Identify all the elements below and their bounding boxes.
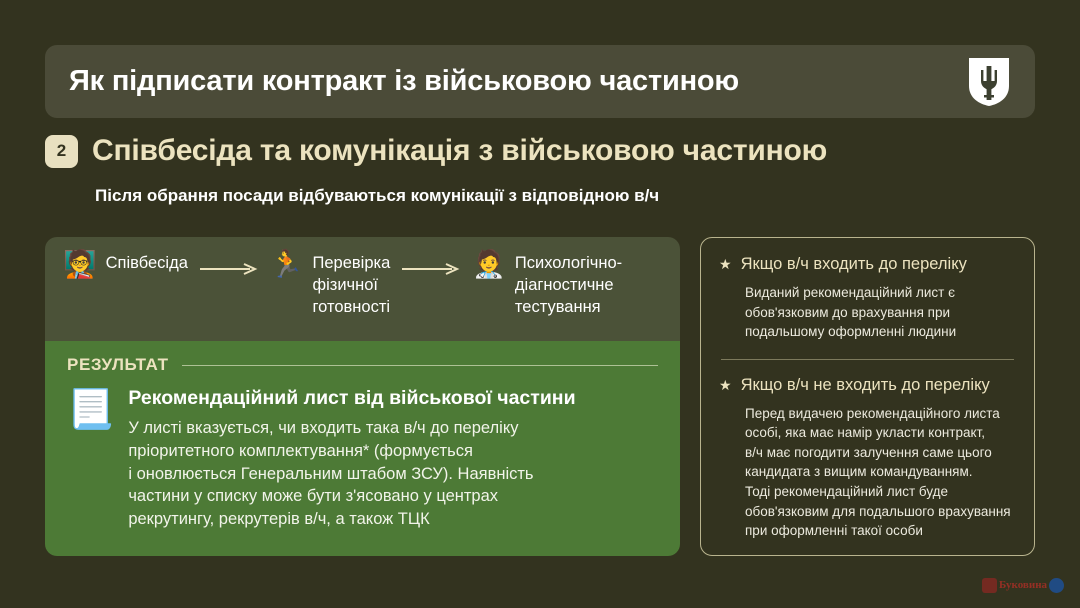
result-header: РЕЗУЛЬТАТ xyxy=(67,355,658,375)
result-body: 📃 Рекомендаційний лист від військової ча… xyxy=(67,387,658,531)
coat-of-arms-icon xyxy=(982,578,997,593)
result-heading: Рекомендаційний лист від військової част… xyxy=(128,387,575,410)
flow-step-psych-testing: 🧑‍⚕️ Психологічно- діагностичне тестуван… xyxy=(472,253,622,319)
flow-step-label: Співбесіда xyxy=(106,253,188,275)
note-title: Якщо в/ч не входить до переліку xyxy=(741,376,990,395)
flow-step-label: Перевірка фізичної готовності xyxy=(313,253,391,319)
page-with-curl-emoji-icon: 📃 xyxy=(67,391,114,531)
teacher-emoji-icon: 🧑‍🏫 xyxy=(63,251,97,278)
result-card: РЕЗУЛЬТАТ 📃 Рекомендаційний лист від вій… xyxy=(45,341,680,556)
star-bullet-icon: ★ xyxy=(719,257,732,271)
notes-divider xyxy=(721,359,1014,360)
page-title: Як підписати контракт із військовою част… xyxy=(69,65,739,98)
running-person-emoji-icon: 🏃 xyxy=(270,251,304,278)
section-subtitle: Після обрання посади відбуваються комуні… xyxy=(95,186,659,206)
section-heading: 2 Співбесіда та комунікація з військовою… xyxy=(45,134,827,168)
note-header: ★ Якщо в/ч входить до переліку xyxy=(719,255,1016,274)
result-description: У листі вказується, чи входить така в/ч … xyxy=(128,417,575,531)
watermark-text: Буковина xyxy=(999,580,1047,591)
result-label: РЕЗУЛЬТАТ xyxy=(67,355,169,375)
flow-step-fitness-check: 🏃 Перевірка фізичної готовності xyxy=(270,253,390,319)
note-body: Виданий рекомендаційний лист є обов'язко… xyxy=(745,283,1016,342)
result-divider xyxy=(182,365,658,366)
health-worker-emoji-icon: 🧑‍⚕️ xyxy=(472,251,506,278)
process-flow-card: 🧑‍🏫 Співбесіда 🏃 Перевірка фізичної гото… xyxy=(45,237,680,341)
ukrainian-trident-shield-icon xyxy=(961,54,1017,110)
arrow-right-icon xyxy=(402,262,460,280)
note-item-included: ★ Якщо в/ч входить до переліку Виданий р… xyxy=(719,255,1016,342)
page-title-bar: Як підписати контракт із військовою част… xyxy=(45,45,1035,118)
arrow-right-icon xyxy=(200,262,258,280)
source-watermark: Буковина xyxy=(982,572,1066,598)
step-number-badge: 2 xyxy=(45,135,78,168)
note-item-not-included: ★ Якщо в/ч не входить до переліку Перед … xyxy=(719,376,1016,541)
flow-step-interview: 🧑‍🏫 Співбесіда xyxy=(63,253,188,278)
notes-panel: ★ Якщо в/ч входить до переліку Виданий р… xyxy=(700,237,1035,556)
flow-step-label: Психологічно- діагностичне тестування xyxy=(515,253,622,319)
note-body: Перед видачею рекомендаційного листа осо… xyxy=(745,404,1016,541)
globe-icon xyxy=(1049,578,1064,593)
section-title: Співбесіда та комунікація з військовою ч… xyxy=(92,134,827,168)
note-title: Якщо в/ч входить до переліку xyxy=(741,255,967,274)
note-header: ★ Якщо в/ч не входить до переліку xyxy=(719,376,1016,395)
result-text-block: Рекомендаційний лист від військової част… xyxy=(128,387,575,531)
star-bullet-icon: ★ xyxy=(719,378,732,392)
